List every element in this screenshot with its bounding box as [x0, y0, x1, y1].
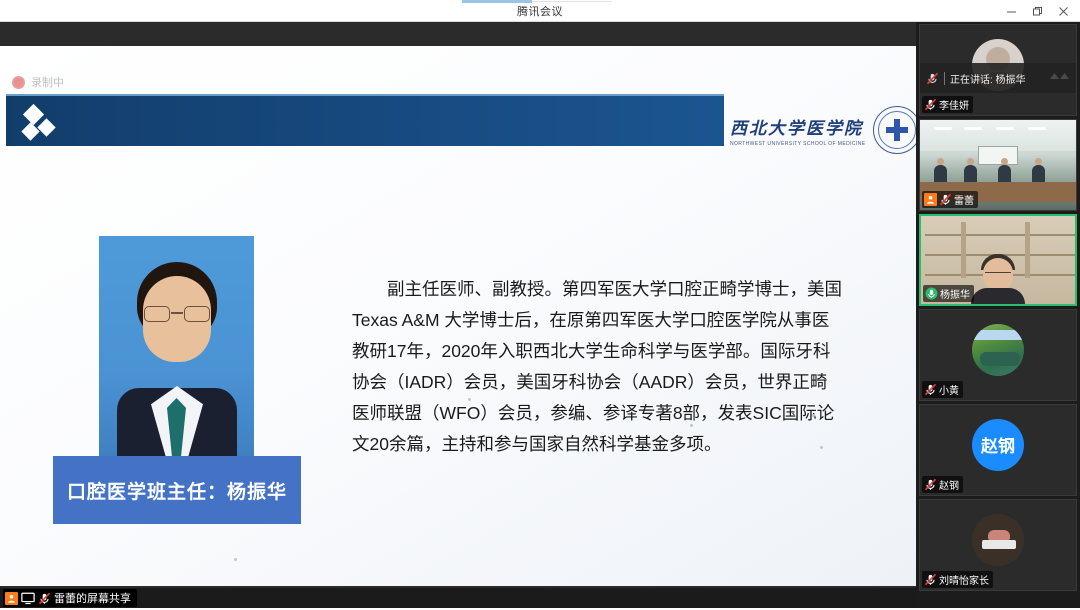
avatar	[972, 514, 1024, 566]
university-brand: 西北大学医学院 NORTHWEST UNIVERSITY SCHOOL OF M…	[730, 102, 910, 158]
participant-tile-active[interactable]: 杨振华	[919, 214, 1077, 306]
glasses-icon	[143, 306, 211, 322]
brand-name-cn: 西北大学医学院	[730, 114, 865, 139]
mic-muted-icon	[924, 573, 937, 586]
decor-speck	[468, 398, 471, 401]
mic-muted-icon	[939, 193, 952, 206]
presentation-slide: 西北大学医学院 NORTHWEST UNIVERSITY SCHOOL OF M…	[0, 46, 916, 586]
screen-share-taskbar: 雷蕾的屏幕共享	[0, 588, 916, 608]
speaking-label: 正在讲话: 杨振华	[950, 71, 1026, 86]
decor-speck	[812, 414, 815, 417]
mic-muted-icon	[38, 592, 51, 605]
brand-name-en: NORTHWEST UNIVERSITY SCHOOL OF MEDICINE	[730, 141, 865, 147]
chevron-collapse-icon[interactable]	[1048, 69, 1074, 87]
participant-name: 赵钢	[939, 477, 959, 492]
participant-name: 雷蕾	[954, 192, 974, 207]
decor-speck	[234, 558, 237, 561]
decor-speck	[690, 424, 693, 427]
recording-label: 录制中	[31, 74, 64, 90]
avatar-initial: 赵钢	[981, 432, 1015, 457]
mic-muted-icon	[924, 478, 937, 491]
decor-speck	[820, 446, 823, 449]
participant-tile[interactable]: 雷蕾	[919, 119, 1077, 211]
minimize-icon[interactable]	[998, 0, 1024, 22]
avatar	[972, 324, 1024, 376]
portrait-card: 口腔医学班主任：杨振华	[53, 236, 301, 524]
participant-name-chip: 李佳妍	[922, 96, 973, 113]
portrait-photo	[99, 236, 254, 461]
participant-name-chip: 赵钢	[922, 476, 963, 493]
close-icon[interactable]	[1050, 0, 1076, 22]
shared-screen-stage: 西北大学医学院 NORTHWEST UNIVERSITY SCHOOL OF M…	[0, 22, 916, 608]
portrait-name-label: 口腔医学班主任：杨振华	[67, 477, 287, 504]
diamond-icon-2	[37, 118, 55, 136]
participant-name-chip: 杨振华	[923, 285, 974, 302]
slide-banner	[6, 94, 724, 146]
participant-tile[interactable]: 赵钢 赵钢	[919, 404, 1077, 496]
tab-indicator-secondary	[532, 1, 612, 2]
slide-body-text: 副主任医师、副教授。第四军医大学口腔正畸学博士，美国Texas A&M 大学博士…	[352, 274, 842, 460]
participant-name: 刘晴怡家长	[939, 572, 989, 587]
participant-tile[interactable]: 李佳妍 正在讲话: 杨振华	[919, 24, 1077, 116]
screen-share-icon	[21, 592, 35, 605]
stage-letterbox-top	[0, 22, 916, 46]
participants-rail[interactable]: 李佳妍 正在讲话: 杨振华	[916, 22, 1080, 608]
recording-indicator: 录制中	[12, 74, 64, 90]
participant-name: 李佳妍	[939, 97, 969, 112]
avatar: 赵钢	[972, 419, 1024, 471]
brand-text: 西北大学医学院 NORTHWEST UNIVERSITY SCHOOL OF M…	[730, 114, 865, 147]
portrait-name-bar: 口腔医学班主任：杨振华	[53, 456, 301, 524]
university-seal-icon	[873, 106, 921, 154]
record-icon	[12, 76, 25, 89]
participant-name-chip: 刘晴怡家长	[922, 571, 993, 588]
maximize-icon[interactable]	[1024, 0, 1050, 22]
participant-name-chip: 雷蕾	[922, 191, 978, 208]
seal-cross-shape	[886, 119, 908, 141]
participant-name: 小黄	[939, 382, 959, 397]
screen-share-chip[interactable]: 雷蕾的屏幕共享	[3, 589, 137, 607]
host-badge-icon	[5, 592, 18, 605]
participant-name: 杨振华	[940, 286, 970, 301]
mic-muted-icon	[926, 72, 939, 85]
window-title: 腾讯会议	[0, 3, 1080, 19]
speaking-overlay: 正在讲话: 杨振华	[920, 63, 1077, 93]
participant-tile[interactable]: 小黄	[919, 309, 1077, 401]
mic-muted-icon	[924, 98, 937, 111]
window-controls	[998, 0, 1076, 22]
host-badge-icon	[924, 193, 937, 206]
screen-share-label: 雷蕾的屏幕共享	[54, 590, 131, 606]
window-title-bar: 腾讯会议	[0, 0, 1080, 22]
mic-muted-icon	[924, 383, 937, 396]
mic-unmuted-icon	[925, 287, 938, 300]
participant-tile[interactable]: 刘晴怡家长	[919, 499, 1077, 591]
diamond-icon-3	[21, 122, 39, 140]
participant-name-chip: 小黄	[922, 381, 963, 398]
person-silhouette	[971, 258, 1025, 304]
